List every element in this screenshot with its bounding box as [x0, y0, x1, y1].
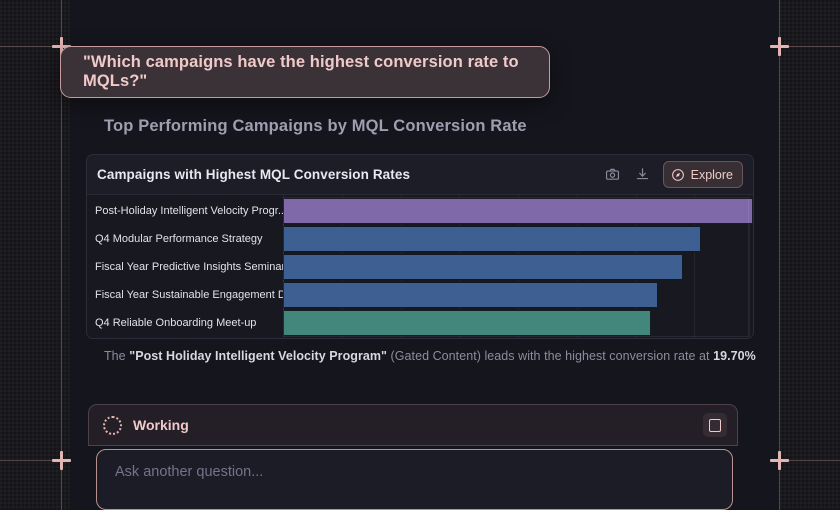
bar-row[interactable]: Q4 Modular Performance Strategy [87, 226, 753, 252]
chart-card-title: Campaigns with Highest MQL Conversion Ra… [97, 167, 410, 182]
bar [283, 226, 701, 252]
ask-question-input[interactable]: Ask another question... [115, 464, 263, 480]
app-root: ...fy the campaigns with the highest "Wh… [0, 0, 840, 510]
caption-campaign-name: "Post Holiday Intelligent Velocity Progr… [129, 349, 387, 363]
bar-row[interactable]: Q4 Reliable Onboarding Meet-up [87, 310, 753, 336]
caption-middle: (Gated Content) leads with the highest c… [387, 349, 713, 363]
bar-row[interactable]: Fiscal Year Predictive Insights Seminar [87, 254, 753, 280]
compass-icon [671, 168, 685, 182]
crosshair-marker-bottom-right [770, 451, 789, 470]
question-bubble-text: "Which campaigns have the highest conver… [83, 53, 527, 91]
guide-line-vertical-right [779, 0, 780, 510]
working-label: Working [133, 417, 189, 433]
chart-card: Campaigns with Highest MQL Conversion Ra… [86, 154, 754, 339]
caption-prefix: The [104, 349, 129, 363]
bar-label: Q4 Reliable Onboarding Meet-up [87, 317, 283, 329]
bar [283, 254, 683, 280]
bar-row[interactable]: Post-Holiday Intelligent Velocity Progr.… [87, 198, 753, 224]
bar-label: Fiscal Year Sustainable Engagement Dr... [87, 289, 283, 301]
bar-row[interactable]: Fiscal Year Sustainable Engagement Dr... [87, 282, 753, 308]
download-icon[interactable] [633, 165, 653, 185]
chart-card-header: Campaigns with Highest MQL Conversion Ra… [87, 155, 753, 195]
ask-question-input-wrapper[interactable]: Ask another question... [96, 449, 733, 510]
bar [283, 198, 753, 224]
bar-label: Post-Holiday Intelligent Velocity Progr.… [87, 205, 283, 217]
bar-rows: Post-Holiday Intelligent Velocity Progr.… [87, 195, 753, 339]
explore-button-label: Explore [691, 168, 733, 182]
caption-value: 19.70% [713, 349, 756, 363]
spinner-icon [103, 416, 122, 435]
camera-icon[interactable] [603, 165, 623, 185]
stop-square-icon [709, 419, 721, 432]
explore-button[interactable]: Explore [663, 161, 743, 188]
bar-label: Q4 Modular Performance Strategy [87, 233, 283, 245]
bar-track [283, 254, 753, 280]
crosshair-marker-bottom-left [52, 451, 71, 470]
bar [283, 310, 651, 336]
chart-caption: The "Post Holiday Intelligent Velocity P… [104, 349, 756, 363]
working-status-bar: Working [88, 404, 738, 446]
bar-track [283, 198, 753, 224]
bar [283, 282, 658, 308]
crosshair-marker-top-right [770, 37, 789, 56]
bar-track [283, 282, 753, 308]
chart-card-actions: Explore [603, 161, 743, 188]
bar-label: Fiscal Year Predictive Insights Seminar [87, 261, 283, 273]
question-bubble: "Which campaigns have the highest conver… [60, 46, 550, 98]
bar-track [283, 310, 753, 336]
stop-button[interactable] [703, 413, 727, 437]
bar-track [283, 226, 753, 252]
bar-chart-plot: Post-Holiday Intelligent Velocity Progr.… [87, 195, 753, 339]
section-title: Top Performing Campaigns by MQL Conversi… [104, 117, 527, 136]
